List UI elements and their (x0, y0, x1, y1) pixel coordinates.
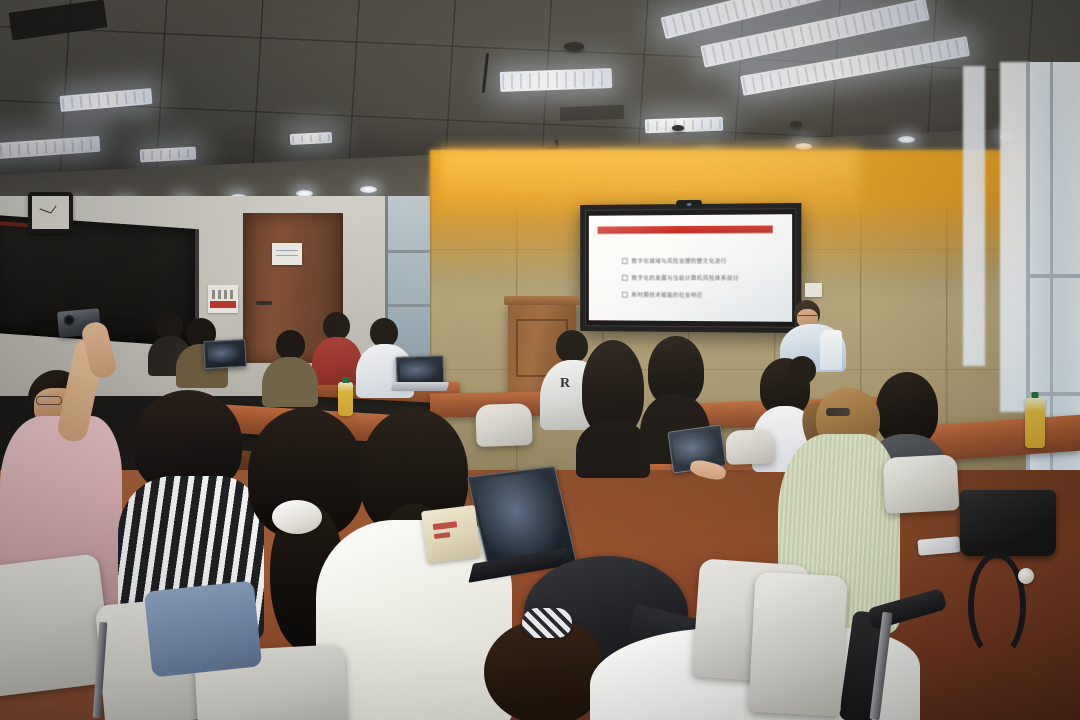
eyeglasses-icon (186, 440, 212, 449)
chair[interactable] (725, 429, 774, 465)
wall-safety-sign (208, 285, 238, 313)
attendee-red-top (312, 312, 362, 380)
door-notice (272, 243, 302, 265)
slide-bullet-item: 数字化的发展与当前计算机风险体系探讨 (622, 274, 778, 282)
chair[interactable] (748, 572, 847, 717)
slide-bullet-item: 数字化城域与风险治理的整文化进行 (622, 257, 778, 265)
bullet-marker-icon (622, 292, 628, 298)
slide-bullet-list: 数字化城域与风险治理的整文化进行 数字化的发展与当前计算机风险体系探讨 新时期技… (622, 257, 778, 309)
glasses-icon (36, 396, 62, 405)
webcam-bar-icon (676, 200, 702, 208)
door-handle[interactable] (256, 301, 272, 305)
slide-bullet-text: 新时期技术赋能的社会响应 (632, 291, 703, 299)
bag-charm (1018, 568, 1034, 584)
laptop-keyboard[interactable] (391, 382, 450, 391)
bag-strap (968, 552, 1026, 660)
bullet-marker-icon (622, 258, 628, 264)
attendee-center-back (262, 330, 318, 400)
chair[interactable] (475, 403, 532, 447)
wall-clock (28, 192, 73, 233)
handbag (960, 490, 1056, 556)
presentation-display[interactable]: 数字化城域与风险治理的整文化进行 数字化的发展与当前计算机风险体系探讨 新时期技… (580, 203, 801, 333)
slide-bullet-item: 新时期技术赋能的社会响应 (622, 291, 778, 300)
tote-bag (421, 505, 481, 563)
attendee-back-right-top (780, 356, 826, 404)
hair-scrunchie (272, 500, 322, 534)
slide-accent-bar (598, 225, 773, 233)
slide-bullet-text: 数字化城域与风险治理的整文化进行 (632, 257, 727, 265)
drink-bottle (1025, 398, 1045, 448)
attendee-long-hair-center (576, 340, 650, 470)
wall-control-panel[interactable] (805, 283, 822, 297)
denim-jacket (144, 580, 262, 677)
laptop[interactable] (203, 339, 246, 369)
beaded-hair-tie (522, 608, 572, 638)
slide-canvas: 数字化城域与风险治理的整文化进行 数字化的发展与当前计算机风险体系探讨 新时期技… (589, 214, 792, 322)
eyeglasses-icon (826, 408, 850, 416)
lecture-room-photo: 数字化城域与风险治理的整文化进行 数字化的发展与当前计算机风险体系探讨 新时期技… (0, 0, 1080, 720)
bullet-marker-icon (622, 275, 628, 281)
slide-bullet-text: 数字化的发展与当前计算机风险体系探讨 (632, 274, 739, 282)
shirt-letter-R: R (560, 376, 570, 392)
glasses-icon (798, 315, 817, 320)
window-glare (963, 66, 985, 366)
chair[interactable] (883, 454, 960, 514)
